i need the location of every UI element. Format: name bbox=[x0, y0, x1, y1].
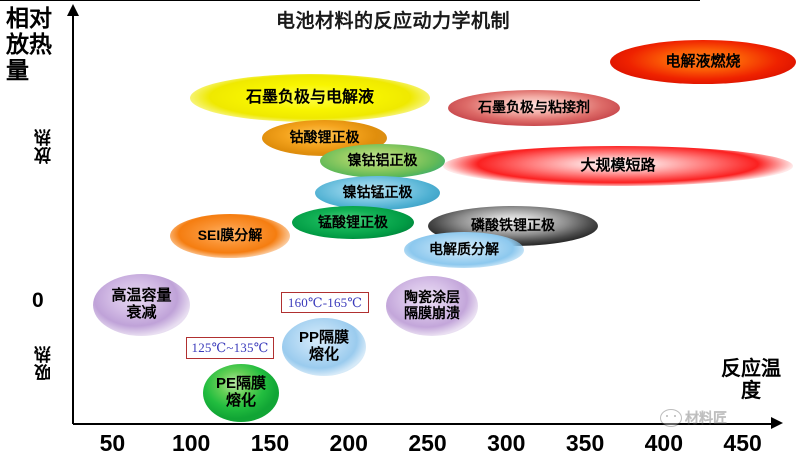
blob-lmo-cathode[interactable]: 锰酸锂正极 bbox=[292, 206, 414, 239]
blob-ceramic-separator-collapse[interactable]: 陶瓷涂层 隔膜崩溃 bbox=[386, 276, 478, 336]
blob-label: 高温容量 衰减 bbox=[111, 288, 171, 322]
blob-electrolyte-combustion[interactable]: 电解液燃烧 bbox=[610, 40, 796, 84]
x-axis-tick-450: 450 bbox=[713, 430, 773, 457]
x-axis-tick-350: 350 bbox=[555, 430, 615, 457]
blob-pp-separator-melt[interactable]: PP隔膜 熔化 bbox=[282, 318, 366, 376]
x-axis-title: 反应温度 bbox=[716, 358, 786, 403]
zero-baseline bbox=[0, 0, 700, 1]
blob-label: 大规模短路 bbox=[580, 158, 655, 175]
blob-label: 钴酸锂正极 bbox=[290, 130, 360, 146]
blob-label: 镍钴铝正极 bbox=[348, 153, 418, 169]
blob-sei-decomposition[interactable]: SEI膜分解 bbox=[170, 214, 290, 258]
x-axis-tick-150: 150 bbox=[240, 430, 300, 457]
blob-label: 石墨负极与粘接剂 bbox=[478, 100, 590, 116]
blob-label: 陶瓷涂层 隔膜崩溃 bbox=[404, 290, 460, 321]
annotation-text: 125℃~135℃ bbox=[192, 340, 269, 356]
blob-label: 石墨负极与电解液 bbox=[246, 89, 374, 107]
blob-graphite-binder[interactable]: 石墨负极与粘接剂 bbox=[448, 90, 620, 126]
blob-nca-cathode[interactable]: 镍钴铝正极 bbox=[320, 144, 445, 178]
blob-electrolyte-decomposition[interactable]: 电解质分解 bbox=[404, 232, 524, 268]
watermark: 材料匠 bbox=[660, 404, 780, 432]
x-axis-tick-200: 200 bbox=[319, 430, 379, 457]
y-axis-endothermic-label: 吸热 bbox=[32, 345, 57, 381]
blob-label: 电解质分解 bbox=[429, 242, 499, 258]
blob-label: PE隔膜 熔化 bbox=[216, 376, 266, 410]
blob-label: 镍钴锰正极 bbox=[343, 185, 413, 201]
x-axis-tick-400: 400 bbox=[634, 430, 694, 457]
blob-pe-separator-melt[interactable]: PE隔膜 熔化 bbox=[203, 364, 279, 422]
blob-high-temp-capacity-fade[interactable]: 高温容量 衰减 bbox=[93, 274, 190, 336]
y-axis-exothermic-label: 放热 bbox=[32, 128, 57, 164]
y-axis-line bbox=[72, 14, 74, 424]
x-axis-tick-250: 250 bbox=[398, 430, 458, 457]
blob-graphite-electrolyte[interactable]: 石墨负极与电解液 bbox=[190, 74, 430, 122]
annotation-pp-temperature[interactable]: 160℃-165℃ bbox=[281, 292, 369, 313]
page-title: 电池材料的反应动力学机制 bbox=[248, 6, 538, 33]
x-axis-tick-100: 100 bbox=[161, 430, 221, 457]
blob-ncm-cathode[interactable]: 镍钴锰正极 bbox=[315, 176, 440, 210]
blob-label: SEI膜分解 bbox=[198, 228, 263, 244]
blob-label: 电解液燃烧 bbox=[665, 54, 740, 71]
y-axis-zero-label: 0 bbox=[32, 289, 44, 313]
y-axis-title: 相对放热量 bbox=[6, 6, 68, 83]
blob-label: 磷酸铁锂正极 bbox=[471, 218, 555, 234]
blob-label: 锰酸锂正极 bbox=[318, 215, 388, 231]
face-circle-icon bbox=[660, 409, 682, 427]
blob-massive-short-circuit[interactable]: 大规模短路 bbox=[443, 146, 793, 186]
y-axis-arrow-icon bbox=[67, 4, 79, 16]
annotation-pe-temperature[interactable]: 125℃~135℃ bbox=[186, 337, 274, 359]
x-axis-tick-50: 50 bbox=[82, 430, 142, 457]
annotation-text: 160℃-165℃ bbox=[288, 295, 362, 311]
blob-label: PP隔膜 熔化 bbox=[299, 330, 349, 364]
chart-canvas: 电池材料的反应动力学机制 相对放热量 放热 吸热 0 反应温度 50100150… bbox=[0, 0, 796, 460]
x-axis-tick-300: 300 bbox=[476, 430, 536, 457]
watermark-label: 材料匠 bbox=[685, 408, 727, 428]
